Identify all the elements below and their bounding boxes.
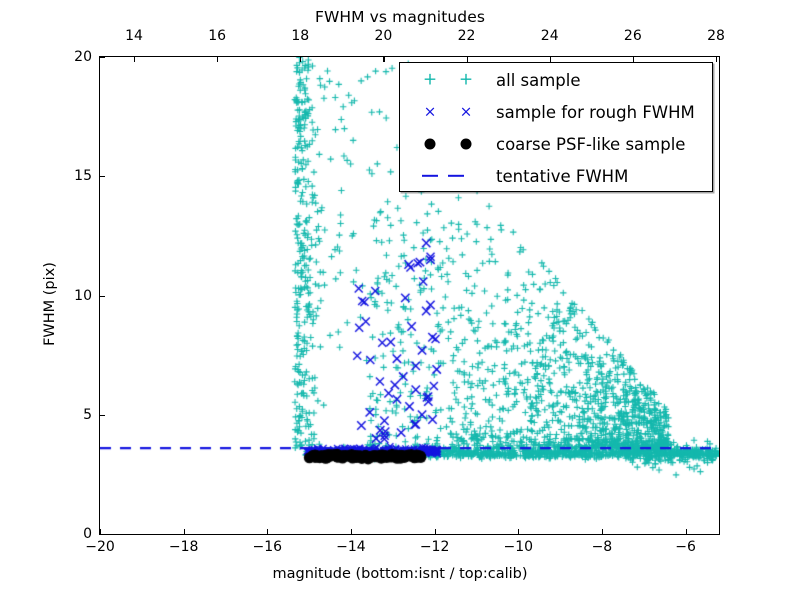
x-tick-label-bottom: −14 [336,539,366,555]
circle-marker-icon [461,139,472,150]
legend-marker-: ×× [400,96,496,128]
x-tick-label-bottom: −8 [592,539,613,555]
x-tick-label-top: 14 [125,28,143,44]
x-axis-label: magnitude (bottom:isnt / top:calib) [0,566,800,582]
cross-marker-icon: × [460,105,473,120]
legend-label: all sample [496,71,581,90]
legend-marker-: ++ [400,64,496,96]
legend-label: tentative FWHM [496,167,628,186]
circle-marker-icon [425,139,436,150]
x-tick-mark-bottom [435,529,436,534]
x-tick-mark-bottom [267,529,268,534]
x-tick-label-bottom: −12 [420,539,450,555]
x-tick-label-bottom: −6 [675,539,696,555]
legend-marker- [400,160,496,192]
cross-marker-icon: × [424,105,437,120]
plus-marker-icon: + [423,72,437,89]
x-tick-label-top: 18 [291,28,309,44]
legend-marker- [400,128,496,160]
y-tick-label: 20 [37,49,92,65]
y-tick-mark [100,415,105,416]
x-tick-label-top: 28 [707,28,725,44]
x-tick-mark-top [716,57,717,62]
dashed-line-icon [448,175,464,177]
x-tick-mark-bottom [351,529,352,534]
legend-entry[interactable]: coarse PSF-like sample [400,128,714,160]
figure-canvas: FWHM vs magnitudes −20−18−16−14−12−10−8−… [0,0,800,600]
x-tick-mark-top [217,57,218,62]
y-axis-label: FWHM (pix) [42,64,58,544]
x-tick-label-top: 26 [624,28,642,44]
legend[interactable]: ++all sample××sample for rough FWHMcoars… [399,62,713,192]
y-tick-mark [100,534,105,535]
x-tick-label-bottom: −16 [253,539,283,555]
x-tick-label-top: 20 [375,28,393,44]
x-tick-mark-top [383,57,384,62]
x-tick-mark-bottom [602,529,603,534]
x-tick-mark-bottom [686,529,687,534]
x-tick-label-top: 16 [208,28,226,44]
y-tick-mark [100,176,105,177]
x-tick-label-bottom: −10 [503,539,533,555]
legend-entry[interactable]: ++all sample [400,64,714,96]
y-tick-mark [100,296,105,297]
chart-title: FWHM vs magnitudes [0,8,800,26]
dashed-line-icon [422,175,438,177]
x-tick-mark-top [134,57,135,62]
plus-marker-icon: + [459,72,473,89]
x-tick-label-bottom: −18 [169,539,199,555]
legend-entry[interactable]: tentative FWHM [400,160,714,192]
legend-label: sample for rough FWHM [496,103,695,122]
x-tick-mark-bottom [518,529,519,534]
x-tick-label-top: 22 [458,28,476,44]
x-tick-mark-bottom [184,529,185,534]
y-tick-mark [100,57,105,58]
legend-label: coarse PSF-like sample [496,135,685,154]
x-tick-mark-top [300,57,301,62]
x-tick-label-top: 24 [541,28,559,44]
legend-entry[interactable]: ××sample for rough FWHM [400,96,714,128]
